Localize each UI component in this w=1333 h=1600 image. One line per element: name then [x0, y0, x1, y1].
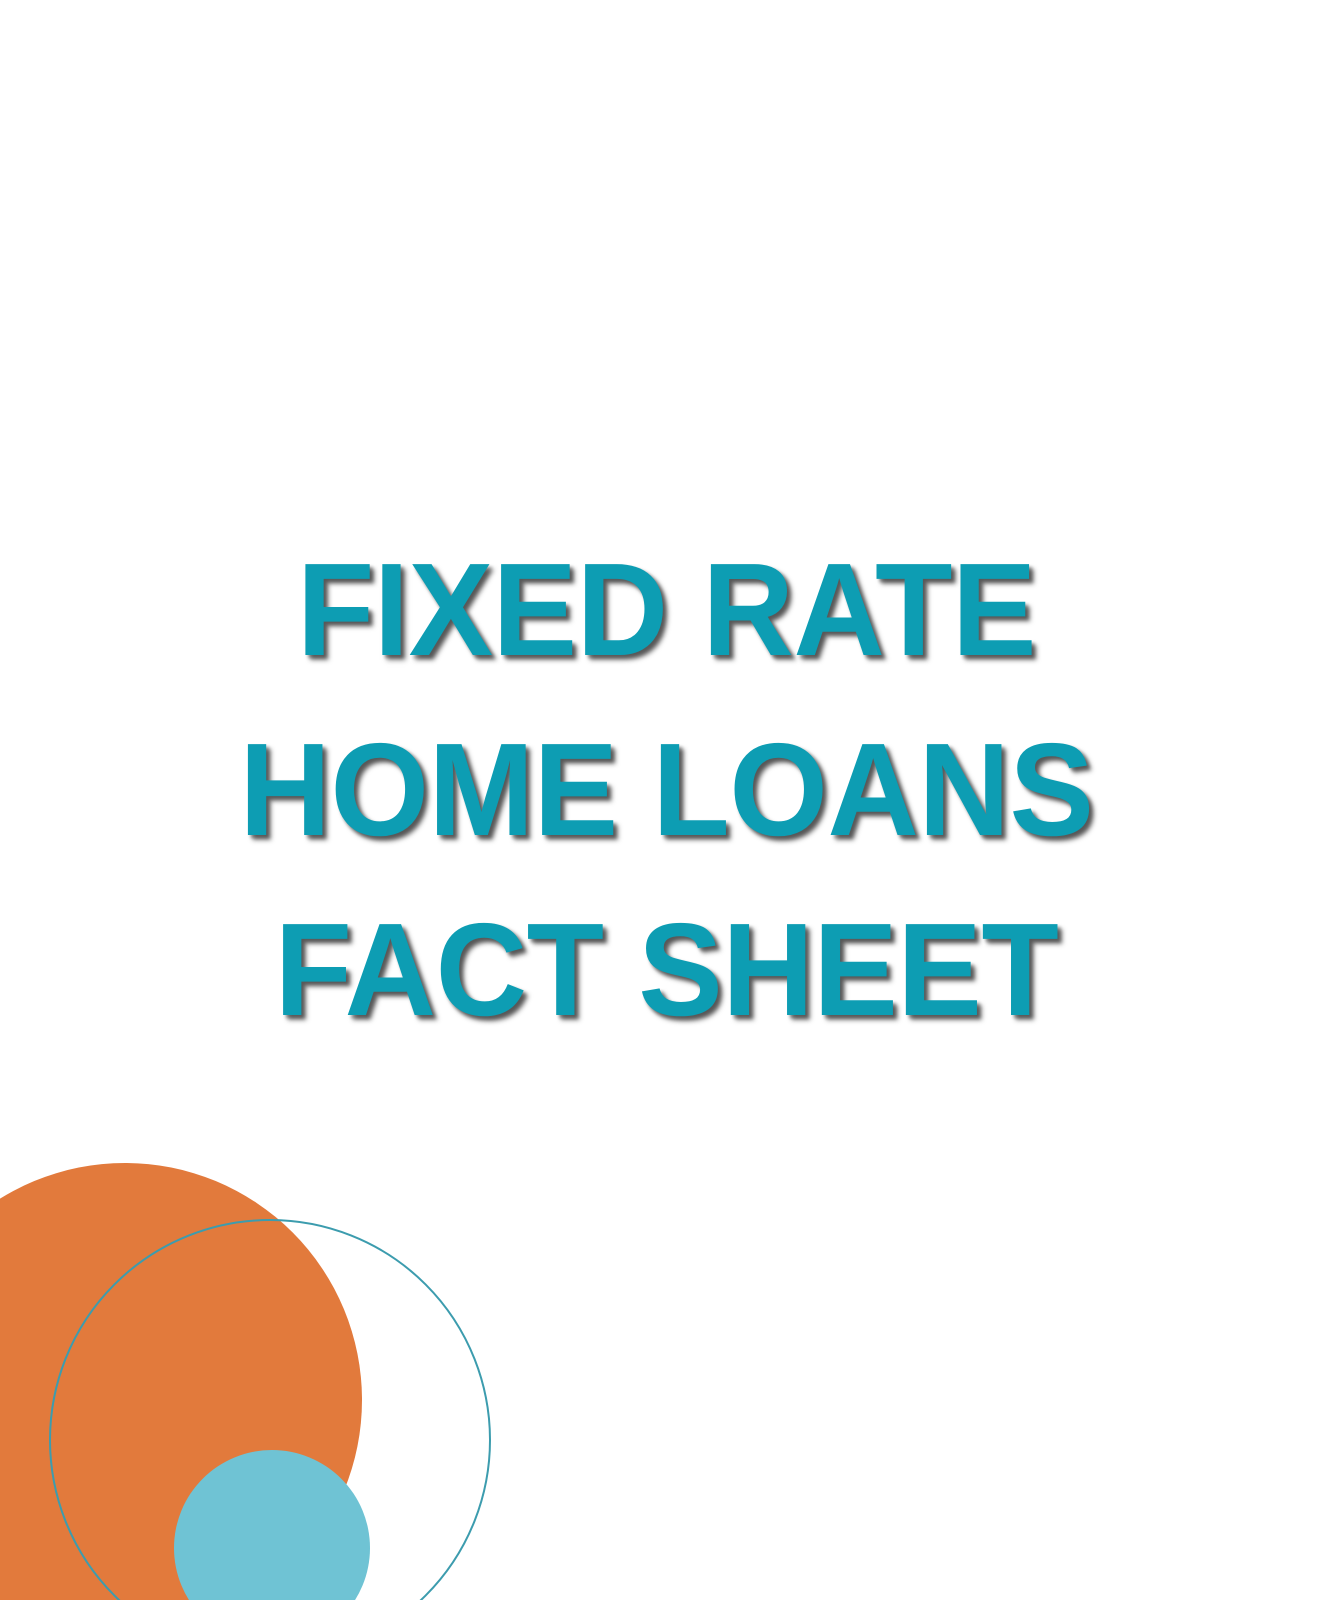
light-blue-filled-circle: [174, 1450, 370, 1600]
title-line-3: FACT SHEET: [27, 880, 1307, 1060]
title-line-2: HOME LOANS: [27, 700, 1307, 880]
title-line-1: FIXED RATE: [27, 520, 1307, 700]
page-title: FIXED RATE HOME LOANS FACT SHEET: [0, 520, 1333, 1060]
teal-outline-circle: [50, 1220, 490, 1600]
cover-page: FIXED RATE HOME LOANS FACT SHEET: [0, 0, 1333, 1600]
orange-filled-circle: [0, 1163, 362, 1600]
